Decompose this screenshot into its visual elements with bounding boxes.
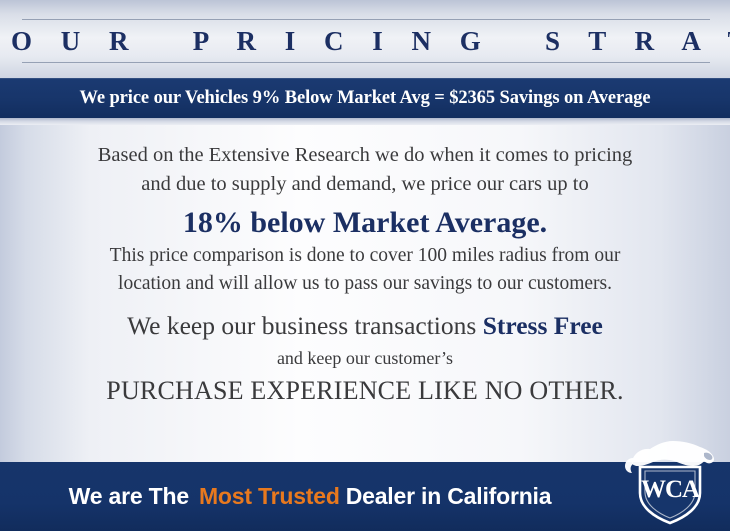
pricing-claim-text: We price our Vehicles 9% Below Market Av… xyxy=(79,88,650,109)
intro-paragraph-line-1: Based on the Extensive Research we do wh… xyxy=(0,141,730,170)
wca-monogram-text: WCA xyxy=(641,476,700,503)
footer-tagline-accent: Most Trusted xyxy=(199,483,340,510)
footer-tagline-before: We are The xyxy=(69,483,189,510)
stress-free-accent: Stress Free xyxy=(483,311,603,340)
intro-paragraph-line-2: and due to supply and demand, we price o… xyxy=(0,170,730,199)
subbar-shine-divider xyxy=(0,118,730,125)
wca-logo: WCA xyxy=(620,431,720,527)
title-rule-top xyxy=(22,19,710,20)
intro-paragraph: Based on the Extensive Research we do wh… xyxy=(0,141,730,199)
body-copy: Based on the Extensive Research we do wh… xyxy=(0,125,730,462)
customer-small-line: and keep our customer’s xyxy=(0,345,730,371)
comparison-paragraph-line-1: This price comparison is done to cover 1… xyxy=(0,242,730,270)
footer-tagline: We are TheMost TrustedDealer in Californ… xyxy=(0,462,620,531)
comparison-paragraph: This price comparison is done to cover 1… xyxy=(0,242,730,298)
footer-tagline-after: Dealer in California xyxy=(346,483,552,510)
wca-shield-icon: WCA xyxy=(620,431,720,527)
comparison-paragraph-line-2: location and will allow us to pass our s… xyxy=(0,270,730,298)
pricing-claim-bar: We price our Vehicles 9% Below Market Av… xyxy=(0,78,730,118)
purchase-experience-line: PURCHASE EXPERIENCE LIKE NO OTHER. xyxy=(0,373,730,409)
discount-highlight: 18% below Market Average. xyxy=(0,204,730,242)
stress-free-prefix: We keep our business transactions xyxy=(127,311,483,340)
stress-free-line: We keep our business transactions Stress… xyxy=(0,309,730,343)
page-title: O U R P R I C I N G S T R A T E G Y xyxy=(0,22,730,60)
title-rule-bottom xyxy=(22,62,710,63)
pricing-strategy-banner: O U R P R I C I N G S T R A T E G Y We p… xyxy=(0,0,730,531)
header-title-block: O U R P R I C I N G S T R A T E G Y xyxy=(0,0,730,78)
